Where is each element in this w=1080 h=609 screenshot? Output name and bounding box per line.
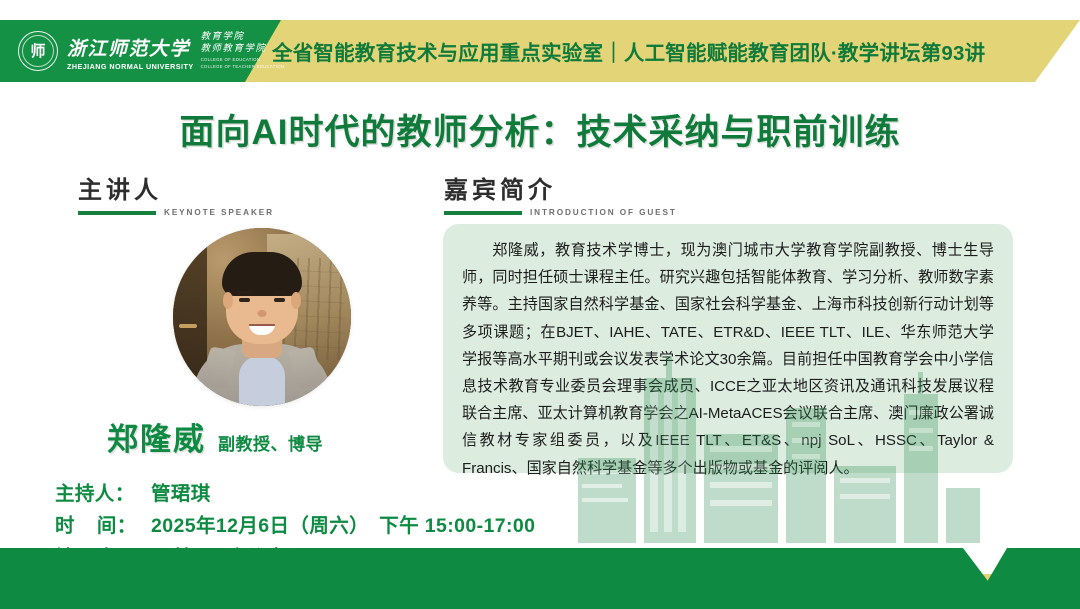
event-poster: 全省智能教育技术与应用重点实验室｜人工智能赋能教育团队·教学讲坛第93讲 师 浙… (0, 0, 1080, 609)
time-label-a: 时 (55, 515, 75, 537)
guest-bio-box: 郑隆威，教育技术学博士，现为澳门城市大学教育学院副教授、博士生导师，同时担任硕士… (443, 224, 1013, 473)
seal-glyph: 师 (19, 40, 57, 61)
section-heading-guest-cn: 嘉宾简介 (444, 178, 677, 204)
section-underline-row-speaker: KEYNOTE SPEAKER (78, 208, 274, 217)
section-heading-speaker-cn: 主讲人 (78, 178, 274, 204)
speaker-name: 郑隆威 (107, 414, 206, 459)
footer-bar (0, 548, 1080, 609)
photo-person-ear-left (223, 292, 233, 309)
footer-green-shape (0, 548, 1080, 609)
logo-college-en-line1: COLLEGE OF EDUCATION (201, 57, 285, 63)
time-label: 时间： (55, 510, 151, 542)
time-value: 2025年12月6日（周六） 下午 15:00-17:00 (151, 510, 535, 542)
host-value: 管珺琪 (151, 478, 211, 510)
section-underline-row-guest: INTRODUCTION OF GUEST (444, 208, 677, 217)
page-title: 面向AI时代的教师分析：技术采纳与职前训练 (0, 104, 1080, 155)
logo-text-group: 浙江师范大学 ZHEJIANG NORMAL UNIVERSITY 教育学院 教… (67, 31, 284, 72)
logo-university-block: 浙江师范大学 ZHEJIANG NORMAL UNIVERSITY (67, 40, 194, 71)
university-logo: 师 浙江师范大学 ZHEJIANG NORMAL UNIVERSITY 教育学院… (18, 20, 284, 82)
speaker-name-row: 郑隆威 副教授、博导 (0, 414, 430, 459)
header-banner-text: 全省智能教育技术与应用重点实验室｜人工智能赋能教育团队·教学讲坛第93讲 (272, 20, 1072, 82)
header-banner: 全省智能教育技术与应用重点实验室｜人工智能赋能教育团队·教学讲坛第93讲 师 浙… (0, 20, 1080, 82)
photo-person-eye-right (274, 298, 285, 302)
section-heading-guest-en: INTRODUCTION OF GUEST (530, 208, 677, 217)
time-label-b: 间： (97, 515, 137, 537)
university-seal-icon: 师 (18, 31, 58, 71)
photo-person-shirt (239, 356, 285, 406)
photo-person-brow-right (273, 291, 287, 294)
speaker-photo (173, 228, 351, 406)
section-rule-guest (444, 211, 522, 215)
host-label: 主持人： (55, 478, 151, 510)
logo-university-cn: 浙江师范大学 (67, 40, 194, 60)
section-heading-speaker: 主讲人 KEYNOTE SPEAKER (78, 178, 274, 217)
photo-person-nose (258, 310, 267, 317)
section-rule-speaker (78, 211, 156, 215)
logo-college-cn-line1: 教育学院 (201, 31, 285, 44)
section-heading-speaker-en: KEYNOTE SPEAKER (164, 208, 274, 217)
detail-row-time: 时间： 2025年12月6日（周六） 下午 15:00-17:00 (55, 510, 535, 542)
photo-person-eye-left (239, 298, 250, 302)
section-heading-guest: 嘉宾简介 INTRODUCTION OF GUEST (444, 178, 677, 217)
logo-college-cn-line2: 教师教育学院 (201, 43, 285, 56)
guest-bio-text: 郑隆威，教育技术学博士，现为澳门城市大学教育学院副教授、博士生导师，同时担任硕士… (462, 237, 994, 482)
speaker-academic-title: 副教授、博导 (218, 430, 323, 455)
photo-person-brow-left (237, 291, 251, 294)
detail-row-host: 主持人： 管珺琪 (55, 478, 535, 510)
photo-person-hair (222, 252, 302, 296)
logo-college-block: 教育学院 教师教育学院 COLLEGE OF EDUCATION COLLEGE… (201, 31, 285, 71)
photo-person-ear-right (291, 292, 301, 309)
logo-college-en-line2: COLLEGE OF TEACHER EDUCATION (201, 64, 285, 70)
logo-university-en: ZHEJIANG NORMAL UNIVERSITY (67, 62, 194, 71)
